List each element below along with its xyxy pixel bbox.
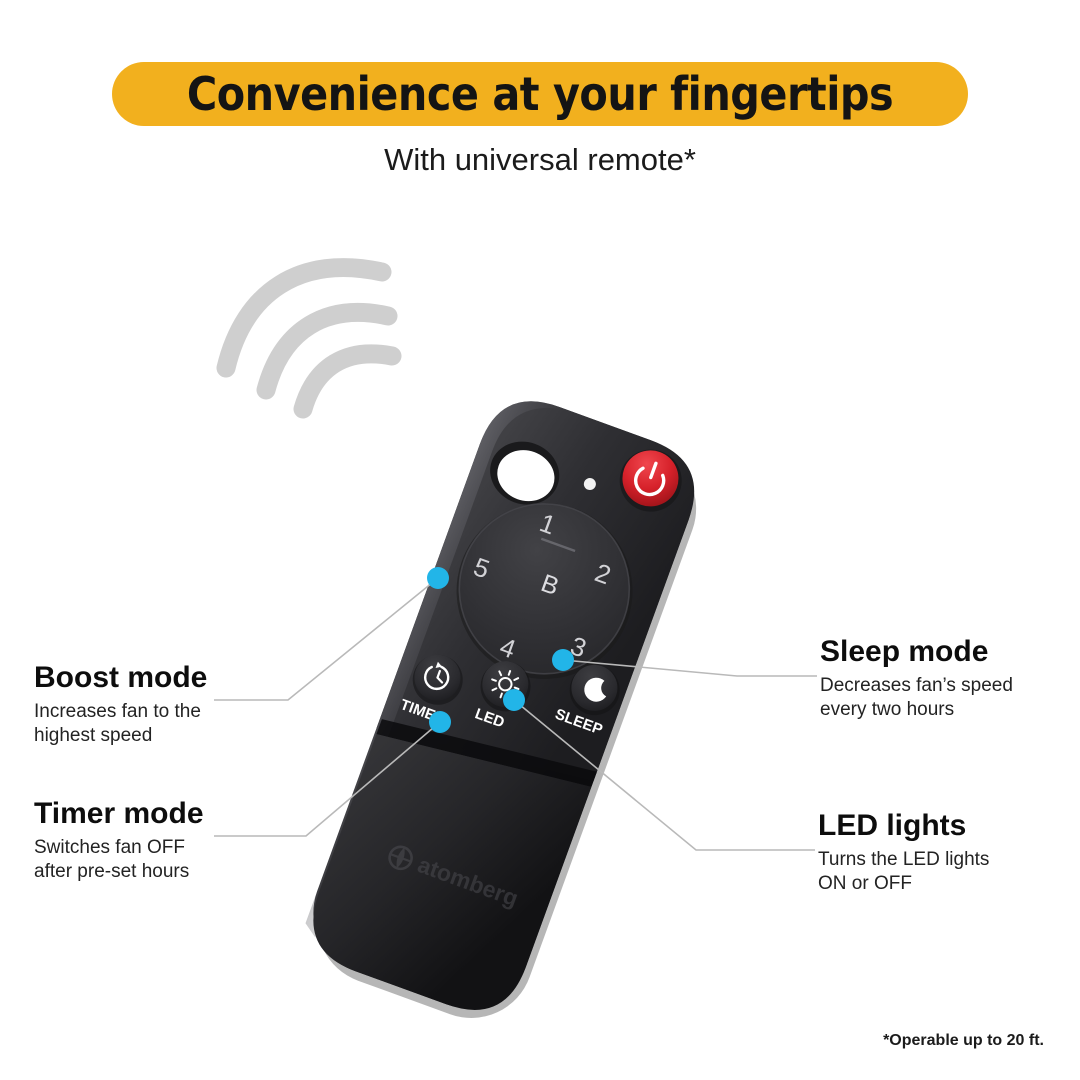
callout-sleep-body-line2: every two hours [820, 698, 1013, 722]
callout-timer-title: Timer mode [34, 798, 204, 830]
callout-boost-title: Boost mode [34, 662, 207, 694]
leader-line-sleep [563, 660, 817, 676]
callout-sleep: Sleep mode Decreases fan’s speed every t… [820, 636, 1013, 722]
leader-line-timer [214, 722, 440, 836]
callout-boost-body-line2: highest speed [34, 724, 207, 748]
callout-timer-body-line1: Switches fan OFF [34, 836, 204, 860]
callout-boost: Boost mode Increases fan to the highest … [34, 662, 207, 748]
callout-timer-body-line2: after pre-set hours [34, 860, 204, 884]
callout-timer: Timer mode Switches fan OFF after pre-se… [34, 798, 204, 884]
callout-led-body-line1: Turns the LED lights [818, 848, 989, 872]
infographic-canvas: Convenience at your fingertips With univ… [0, 0, 1080, 1080]
callout-sleep-body-line1: Decreases fan’s speed [820, 674, 1013, 698]
callout-leader-lines [0, 0, 1080, 1080]
callout-sleep-title: Sleep mode [820, 636, 1013, 668]
callout-led-title: LED lights [818, 810, 989, 842]
marker-dot-timer[interactable] [429, 711, 451, 733]
marker-dot-led[interactable] [503, 689, 525, 711]
callout-led-body-line2: ON or OFF [818, 872, 989, 896]
callout-boost-body-line1: Increases fan to the [34, 700, 207, 724]
marker-dot-boost[interactable] [427, 567, 449, 589]
callout-markers [427, 567, 574, 733]
marker-dot-sleep[interactable] [552, 649, 574, 671]
leader-line-boost [214, 578, 438, 700]
callout-led: LED lights Turns the LED lights ON or OF… [818, 810, 989, 896]
footnote: *Operable up to 20 ft. [883, 1032, 1044, 1050]
leader-line-led [514, 700, 815, 850]
